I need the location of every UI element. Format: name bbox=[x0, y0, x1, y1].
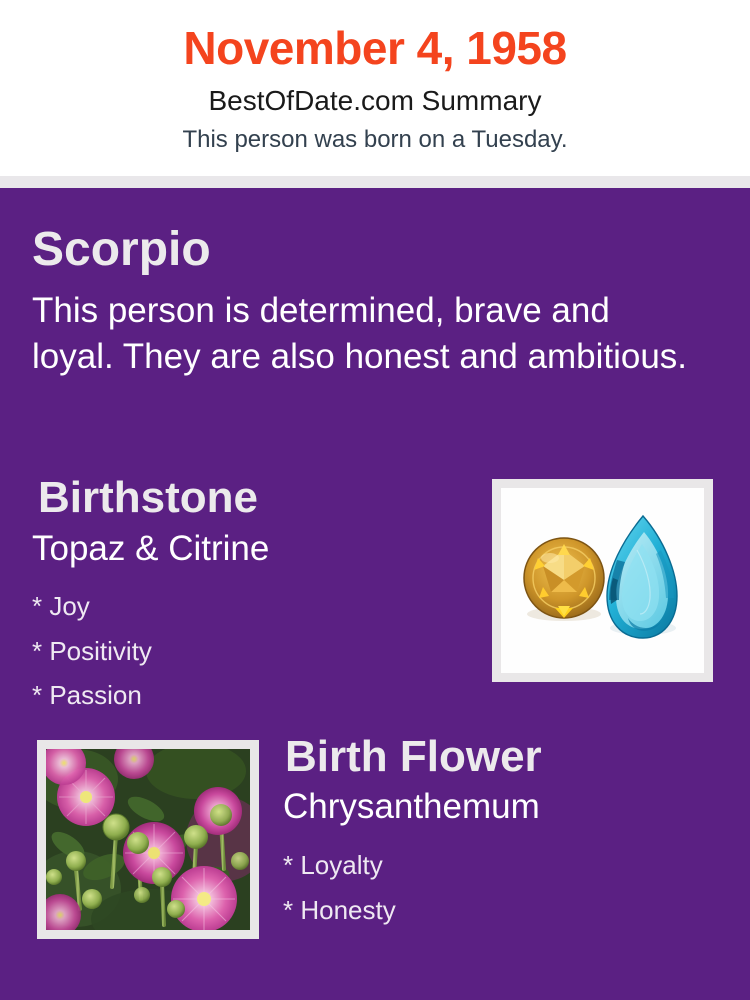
birthstone-name: Topaz & Citrine bbox=[32, 531, 269, 566]
list-item: * Honesty bbox=[283, 888, 703, 933]
zodiac-sign-heading: Scorpio bbox=[32, 226, 211, 274]
birth-flower-trait-list: * Loyalty * Honesty bbox=[283, 843, 703, 932]
birth-flower-image-frame bbox=[37, 740, 259, 939]
list-item: * Passion bbox=[32, 673, 452, 718]
zodiac-description: This person is determined, brave and loy… bbox=[32, 288, 698, 379]
header-divider bbox=[0, 176, 750, 188]
born-weekday-text: This person was born on a Tuesday. bbox=[0, 127, 750, 153]
chrysanthemum-illustration bbox=[46, 749, 250, 930]
site-summary-subtitle: BestOfDate.com Summary bbox=[0, 86, 750, 117]
details-panel: Scorpio This person is determined, brave… bbox=[0, 188, 750, 1000]
list-item: * Loyalty bbox=[283, 843, 703, 888]
birth-flower-photo bbox=[46, 749, 250, 930]
gems-illustration bbox=[501, 488, 704, 673]
page-title: November 4, 1958 bbox=[0, 24, 750, 72]
birth-flower-name: Chrysanthemum bbox=[283, 789, 540, 824]
birthstone-trait-list: * Joy * Positivity * Passion bbox=[32, 584, 452, 718]
summary-card: November 4, 1958 BestOfDate.com Summary … bbox=[0, 0, 750, 1000]
birthstone-image-frame bbox=[492, 479, 713, 682]
birthstone-gems-photo bbox=[501, 488, 704, 673]
birthstone-heading: Birthstone bbox=[38, 476, 258, 520]
citrine-gem-icon bbox=[524, 538, 604, 618]
card-header: November 4, 1958 BestOfDate.com Summary … bbox=[0, 0, 750, 176]
list-item: * Joy bbox=[32, 584, 452, 629]
list-item: * Positivity bbox=[32, 629, 452, 674]
birth-flower-heading: Birth Flower bbox=[285, 735, 542, 779]
